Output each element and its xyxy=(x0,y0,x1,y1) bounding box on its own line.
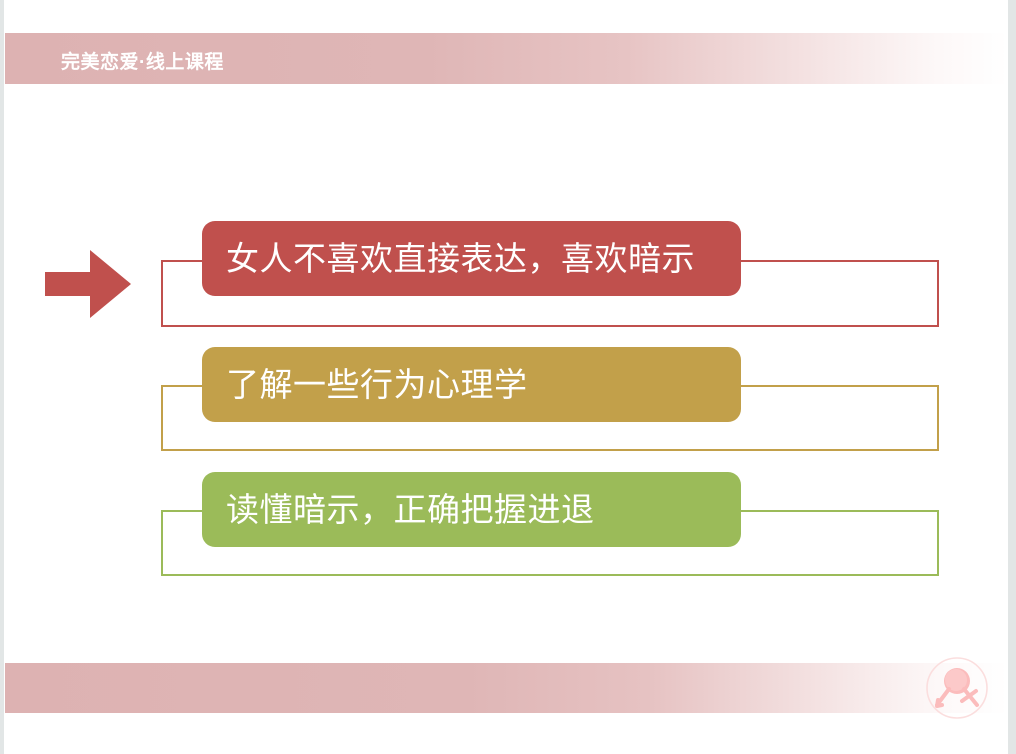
right-arrow-icon xyxy=(42,246,134,322)
gender-symbols-logo xyxy=(924,655,990,721)
row-chip-label: 读懂暗示，正确把握进退 xyxy=(202,493,595,526)
row-chip-1[interactable]: 女人不喜欢直接表达，喜欢暗示 xyxy=(202,221,741,296)
slide-canvas: 完美恋爱·线上课程 女人不喜欢直接表达，喜欢暗示 了解一些行为心理学 读懂暗 xyxy=(0,0,1016,754)
row-chip-2[interactable]: 了解一些行为心理学 xyxy=(202,347,741,422)
slide-body: 完美恋爱·线上课程 女人不喜欢直接表达，喜欢暗示 了解一些行为心理学 读懂暗 xyxy=(4,0,1008,754)
footer-band xyxy=(5,663,1008,713)
row-chip-label: 女人不喜欢直接表达，喜欢暗示 xyxy=(202,242,695,275)
page-edge-right xyxy=(1008,0,1016,754)
row-chip-label: 了解一些行为心理学 xyxy=(202,368,528,401)
row-chip-3[interactable]: 读懂暗示，正确把握进退 xyxy=(202,472,741,547)
slide-title: 完美恋爱·线上课程 xyxy=(61,47,224,74)
